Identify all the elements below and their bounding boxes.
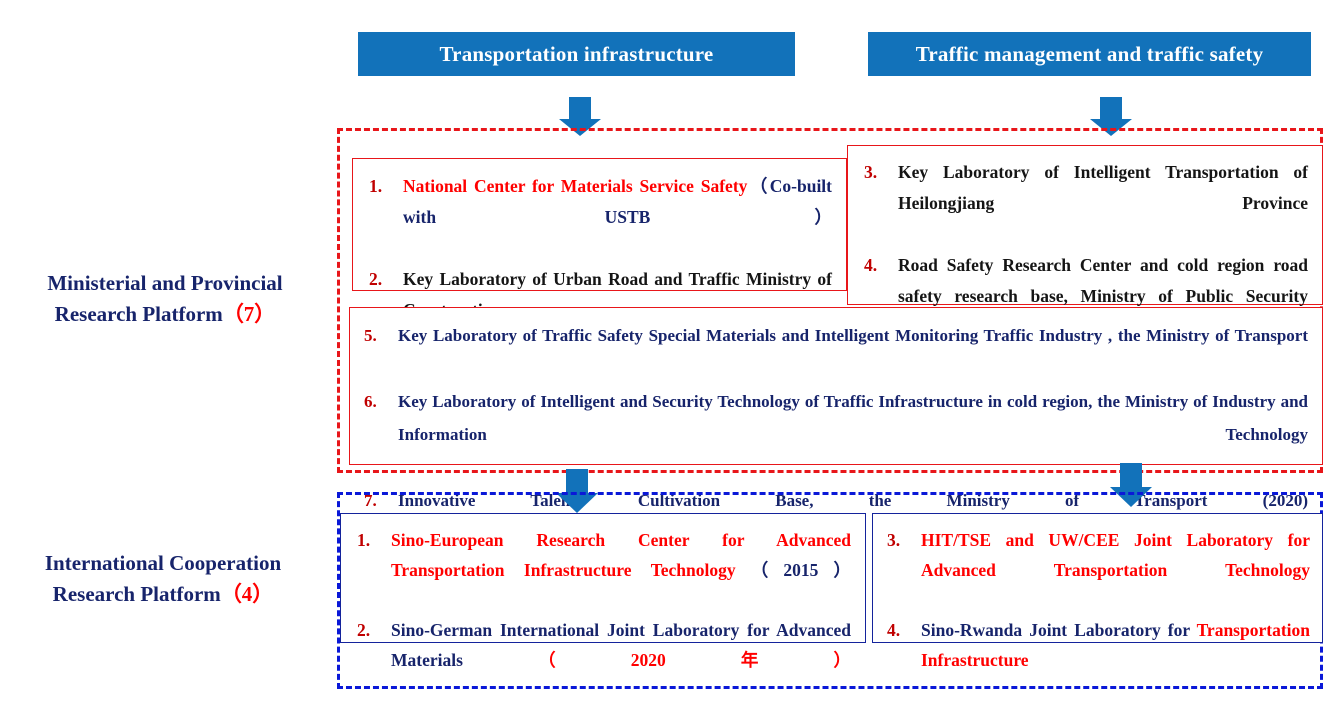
list-international-right: 3. HIT/TSE and UW/CEE Joint Laboratory f… [873, 514, 1322, 705]
label-line-2: Research Platform（7） [6, 299, 324, 330]
list-item-text: Key Laboratory of Intelligent and Securi… [398, 385, 1308, 484]
arrow-shaft [1120, 463, 1142, 487]
banner-transportation-infrastructure: Transportation infrastructure [358, 32, 795, 76]
arrow-shaft [569, 97, 591, 119]
list-item-number: 4. [864, 250, 898, 281]
label-count: （7） [223, 302, 276, 326]
list-international-left: 1. Sino-European Research Center for Adv… [341, 514, 865, 705]
arrow-shaft [1100, 97, 1122, 119]
list-item-suffix: （2020年） [463, 650, 851, 670]
list-item-number: 1. [369, 171, 403, 202]
list-item-number: 6. [364, 385, 398, 418]
list-item: 1. National Center for Materials Service… [369, 171, 832, 264]
label-ministerial-provincial-platform: Ministerial and Provincial Research Plat… [6, 268, 324, 330]
list-item-number: 4. [887, 615, 921, 645]
panel-international-right: 3. HIT/TSE and UW/CEE Joint Laboratory f… [872, 513, 1323, 643]
list-item-number: 5. [364, 319, 398, 352]
label-line-2: Research Platform（4） [4, 579, 322, 610]
diagram-canvas: Transportation infrastructure Traffic ma… [0, 0, 1343, 709]
list-item-text: National Center for Materials Service Sa… [403, 171, 832, 264]
list-item-text: HIT/TSE and UW/CEE Joint Laboratory for … [921, 525, 1310, 615]
list-item: 1. Sino-European Research Center for Adv… [357, 525, 851, 615]
list-item: 3. HIT/TSE and UW/CEE Joint Laboratory f… [887, 525, 1310, 615]
list-item-number: 2. [357, 615, 391, 645]
panel-ministerial-wide: 5. Key Laboratory of Traffic Safety Spec… [349, 307, 1323, 465]
panel-ministerial-transportation: 1. National Center for Materials Service… [352, 158, 847, 291]
list-item-number: 1. [357, 525, 391, 555]
list-item: 3. Key Laboratory of Intelligent Transpo… [864, 157, 1308, 250]
list-item: 2. Sino-German International Joint Labor… [357, 615, 851, 705]
list-item-suffix: （2015） [736, 560, 851, 580]
list-item-number: 2. [369, 264, 403, 295]
list-item: 6. Key Laboratory of Intelligent and Sec… [364, 385, 1308, 484]
list-item-text: Sino-European Research Center for Advanc… [391, 525, 851, 615]
banner-traffic-management: Traffic management and traffic safety [868, 32, 1311, 76]
list-item-number: 3. [887, 525, 921, 555]
label-line-1: Ministerial and Provincial [6, 268, 324, 299]
arrow-shaft [566, 469, 588, 493]
panel-ministerial-traffic: 3. Key Laboratory of Intelligent Transpo… [847, 145, 1323, 305]
list-item-text: Key Laboratory of Intelligent Transporta… [898, 157, 1308, 250]
label-international-cooperation-platform: International Cooperation Research Platf… [4, 548, 322, 610]
list-item-text: Sino-German International Joint Laborato… [391, 615, 851, 705]
list-item-number: 3. [864, 157, 898, 188]
list-item-text: Sino-Rwanda Joint Laboratory for Transpo… [921, 615, 1310, 705]
label-count: （4） [221, 582, 274, 606]
list-item: 4. Sino-Rwanda Joint Laboratory for Tran… [887, 615, 1310, 705]
list-item-text: Key Laboratory of Traffic Safety Special… [398, 319, 1308, 385]
label-line-1: International Cooperation [4, 548, 322, 579]
panel-international-left: 1. Sino-European Research Center for Adv… [340, 513, 866, 643]
list-item: 5. Key Laboratory of Traffic Safety Spec… [364, 319, 1308, 385]
